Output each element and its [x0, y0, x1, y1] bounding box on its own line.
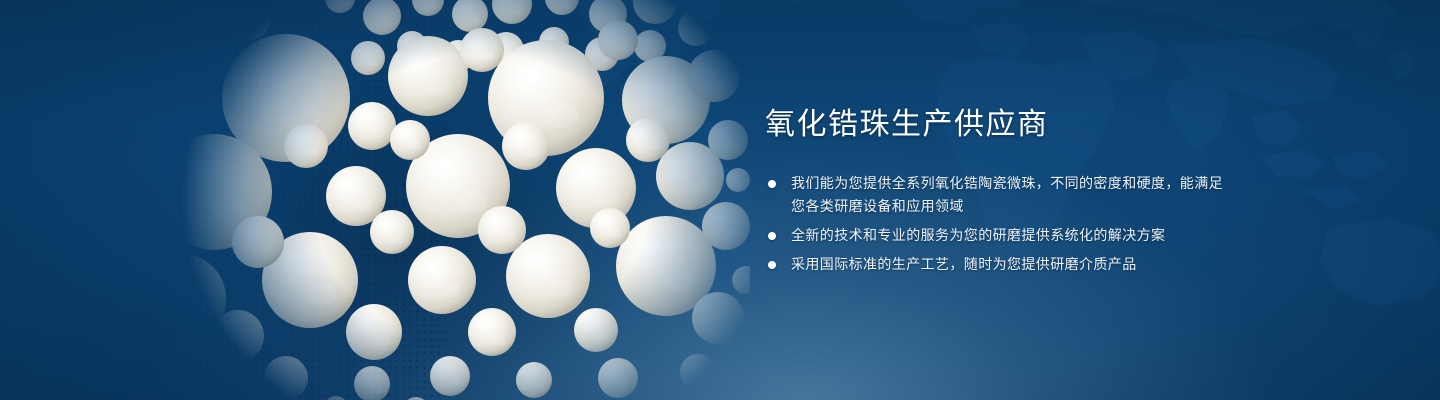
list-item: 我们能为您提供全系列氧化锆陶瓷微珠，不同的密度和硬度，能满足您各类研磨设备和应用…: [765, 172, 1225, 218]
list-item-label: 全新的技术和专业的服务为您的研磨提供系统化的解决方案: [791, 224, 1225, 247]
list-item-label: 我们能为您提供全系列氧化锆陶瓷微珠，不同的密度和硬度，能满足您各类研磨设备和应用…: [791, 172, 1225, 218]
banner-text-block: 氧化锆珠生产供应商 我们能为您提供全系列氧化锆陶瓷微珠，不同的密度和硬度，能满足…: [765, 106, 1225, 282]
bullet-dot-icon: [768, 232, 776, 240]
bullet-dot-icon: [768, 261, 776, 269]
list-item: 全新的技术和专业的服务为您的研磨提供系统化的解决方案: [765, 224, 1225, 247]
page-title: 氧化锆珠生产供应商: [765, 106, 1225, 144]
list-item-label: 采用国际标准的生产工艺，随时为您提供研磨介质产品: [791, 253, 1225, 276]
list-item: 采用国际标准的生产工艺，随时为您提供研磨介质产品: [765, 253, 1225, 276]
bullet-dot-icon: [768, 180, 776, 188]
hero-banner: 氧化锆珠生产供应商 我们能为您提供全系列氧化锆陶瓷微珠，不同的密度和硬度，能满足…: [0, 0, 1440, 400]
feature-list: 我们能为您提供全系列氧化锆陶瓷微珠，不同的密度和硬度，能满足您各类研磨设备和应用…: [765, 172, 1225, 276]
